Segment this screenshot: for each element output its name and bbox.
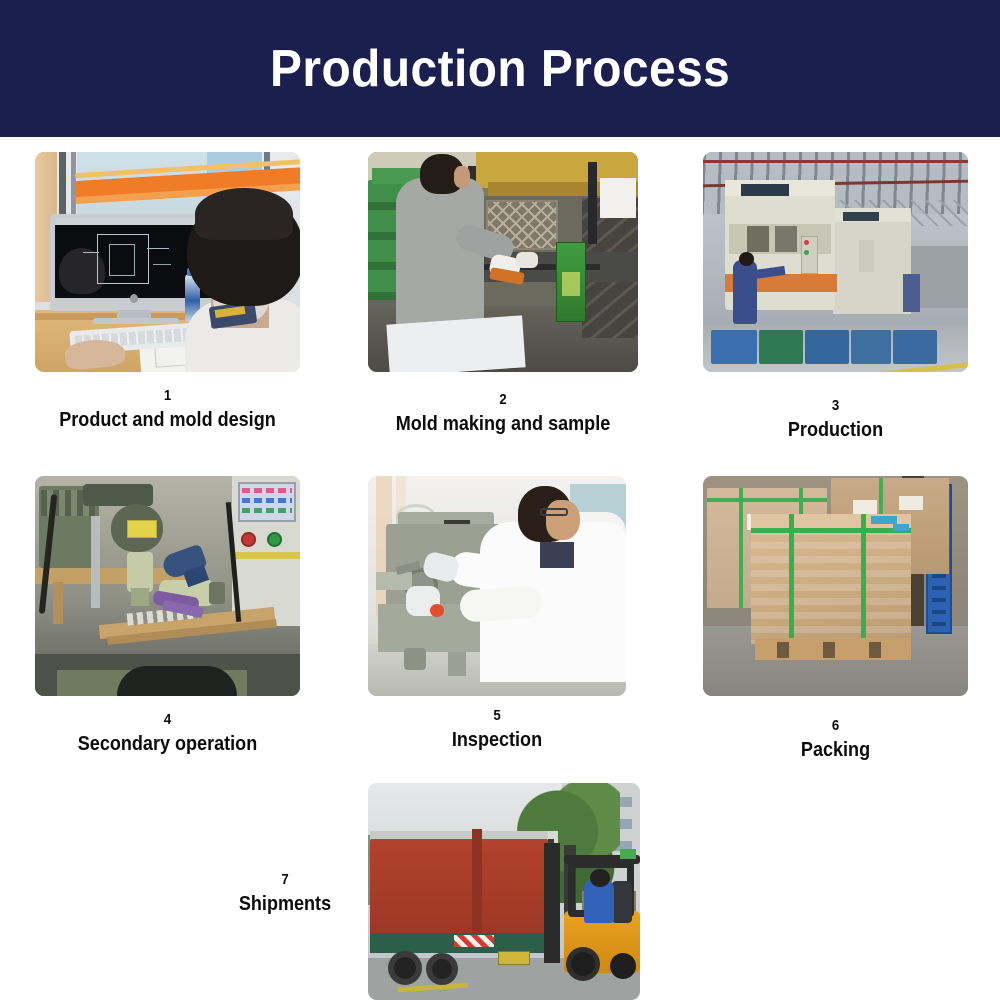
step-1-photo — [35, 152, 300, 372]
step-1-number: 1 — [51, 388, 284, 404]
production-process-infographic: Production Process 1 Product and mold de… — [0, 0, 1000, 1000]
step-4-caption: 4 Secondary operation — [35, 712, 300, 754]
step-3-caption: 3 Production — [703, 398, 968, 440]
step-2-number: 2 — [384, 392, 622, 408]
step-5-label: Inspection — [383, 729, 610, 751]
step-4-label: Secondary operation — [51, 733, 284, 755]
step-3-number: 3 — [719, 398, 952, 414]
step-4-number: 4 — [51, 712, 284, 728]
step-7-photo — [368, 783, 640, 1000]
step-6-caption: 6 Packing — [703, 718, 968, 760]
step-3-label: Production — [719, 419, 952, 441]
step-6-label: Packing — [719, 739, 952, 761]
page-title: Production Process — [270, 39, 730, 99]
step-2-label: Mold making and sample — [384, 413, 622, 435]
page-header-banner: Production Process — [0, 0, 1000, 137]
step-7-number: 7 — [223, 872, 346, 888]
step-7-caption: 7 Shipments — [215, 872, 355, 914]
step-5-number: 5 — [383, 708, 610, 724]
step-6-number: 6 — [719, 718, 952, 734]
step-1-label: Product and mold design — [51, 409, 284, 431]
step-5-photo — [368, 476, 626, 696]
step-2-photo — [368, 152, 638, 372]
step-3-photo — [703, 152, 968, 372]
step-1-caption: 1 Product and mold design — [35, 388, 300, 430]
step-7-label: Shipments — [223, 893, 346, 915]
step-2-caption: 2 Mold making and sample — [368, 392, 638, 434]
step-4-photo — [35, 476, 300, 696]
step-6-photo — [703, 476, 968, 696]
step-5-caption: 5 Inspection — [368, 708, 626, 750]
